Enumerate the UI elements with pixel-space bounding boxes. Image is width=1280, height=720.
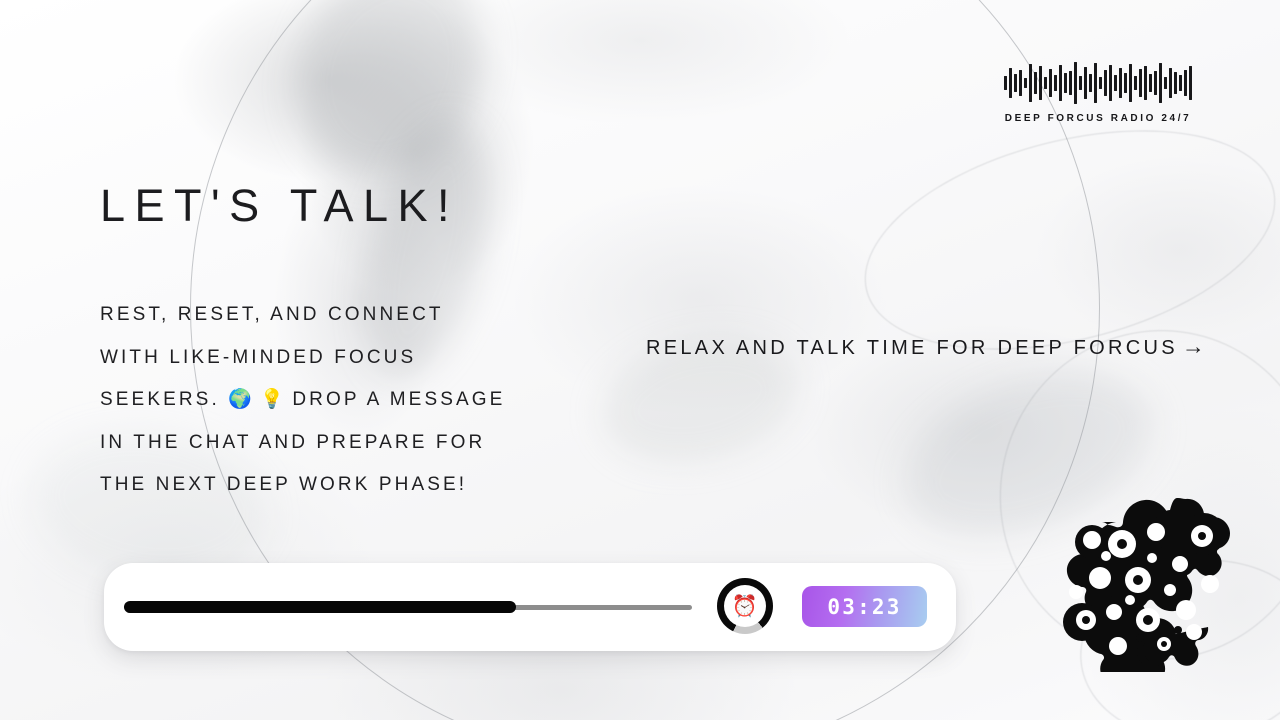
waveform-bar [1149, 74, 1152, 92]
waveform-bar [1079, 76, 1082, 90]
waveform-bar [1144, 66, 1147, 100]
lightbulb-icon: 💡 [260, 389, 284, 410]
body-line-5: THE NEXT DEEP WORK PHASE! [100, 464, 570, 507]
waveform-bar [1069, 71, 1072, 95]
waveform-bar [1139, 69, 1142, 97]
waveform-bar [1184, 70, 1187, 96]
waveform-bar [1034, 72, 1037, 94]
alarm-clock-icon: ⏰ [732, 596, 758, 617]
waveform-bar [1164, 77, 1167, 89]
waveform-bar [1064, 73, 1067, 93]
body-line-3-pre: SEEKERS. [100, 389, 220, 410]
waveform-bar [1174, 72, 1177, 94]
waveform-bar [1119, 68, 1122, 98]
timer-badge[interactable]: 03:23 [802, 586, 927, 627]
waveform-bar [1004, 76, 1007, 90]
waveform-bar [1114, 75, 1117, 91]
globe-icon: 🌍 [228, 389, 252, 410]
body-line-2: WITH LIKE-MINDED FOCUS [100, 337, 570, 380]
waveform-bar [1094, 63, 1097, 103]
waveform-bar [1154, 71, 1157, 95]
waveform-bar [1054, 75, 1057, 91]
page-title: LET'S TALK! [100, 180, 459, 232]
waveform-bar [1104, 70, 1107, 96]
waveform-bar [1039, 66, 1042, 100]
body-line-3-post: DROP A MESSAGE [292, 389, 505, 410]
waveform-bar [1049, 69, 1052, 97]
waveform-bar [1084, 67, 1087, 99]
waveform-bar [1109, 65, 1112, 101]
waveform-bar [1179, 75, 1182, 91]
waveform-bar [1024, 78, 1027, 88]
playback-progress-slider[interactable] [124, 601, 692, 613]
waveform-bar [1124, 73, 1127, 93]
arrow-right-icon: → [1182, 333, 1205, 359]
body-line-3: SEEKERS. 🌍 💡 DROP A MESSAGE [100, 379, 570, 422]
waveform-bar [1009, 68, 1012, 98]
waveform-bar [1134, 76, 1137, 90]
tagline: RELAX AND TALK TIME FOR DEEP FORCUS→ [646, 333, 1205, 360]
brand-logo-text: DEEP FORCUS RADIO 24/7 [1004, 113, 1192, 124]
waveform-bar [1019, 70, 1022, 96]
audio-waveform-icon [1004, 62, 1192, 104]
waveform-bar [1189, 66, 1192, 100]
brand-logo: DEEP FORCUS RADIO 24/7 [1004, 62, 1192, 124]
waveform-bar [1129, 64, 1132, 102]
slide-canvas: DEEP FORCUS RADIO 24/7 LET'S TALK! REST,… [0, 0, 1280, 720]
progress-fill [124, 601, 516, 613]
waveform-bar [1169, 68, 1172, 98]
waveform-bar [1099, 77, 1102, 89]
body-line-1: REST, RESET, AND CONNECT [100, 294, 570, 337]
timer-ring-button[interactable]: ⏰ [717, 578, 773, 634]
waveform-bar [1159, 63, 1162, 103]
waveform-bar [1059, 65, 1062, 101]
body-line-4: IN THE CHAT AND PREPARE FOR [100, 422, 570, 465]
waveform-bar [1074, 62, 1077, 104]
waveform-bar [1044, 77, 1047, 89]
tagline-text: RELAX AND TALK TIME FOR DEEP FORCUS [646, 337, 1178, 359]
body-paragraph: REST, RESET, AND CONNECT WITH LIKE-MINDE… [100, 294, 570, 507]
waveform-bar [1029, 64, 1032, 102]
waveform-bar [1089, 74, 1092, 92]
waveform-bar [1014, 74, 1017, 92]
ink-blob-decoration [1052, 492, 1242, 672]
